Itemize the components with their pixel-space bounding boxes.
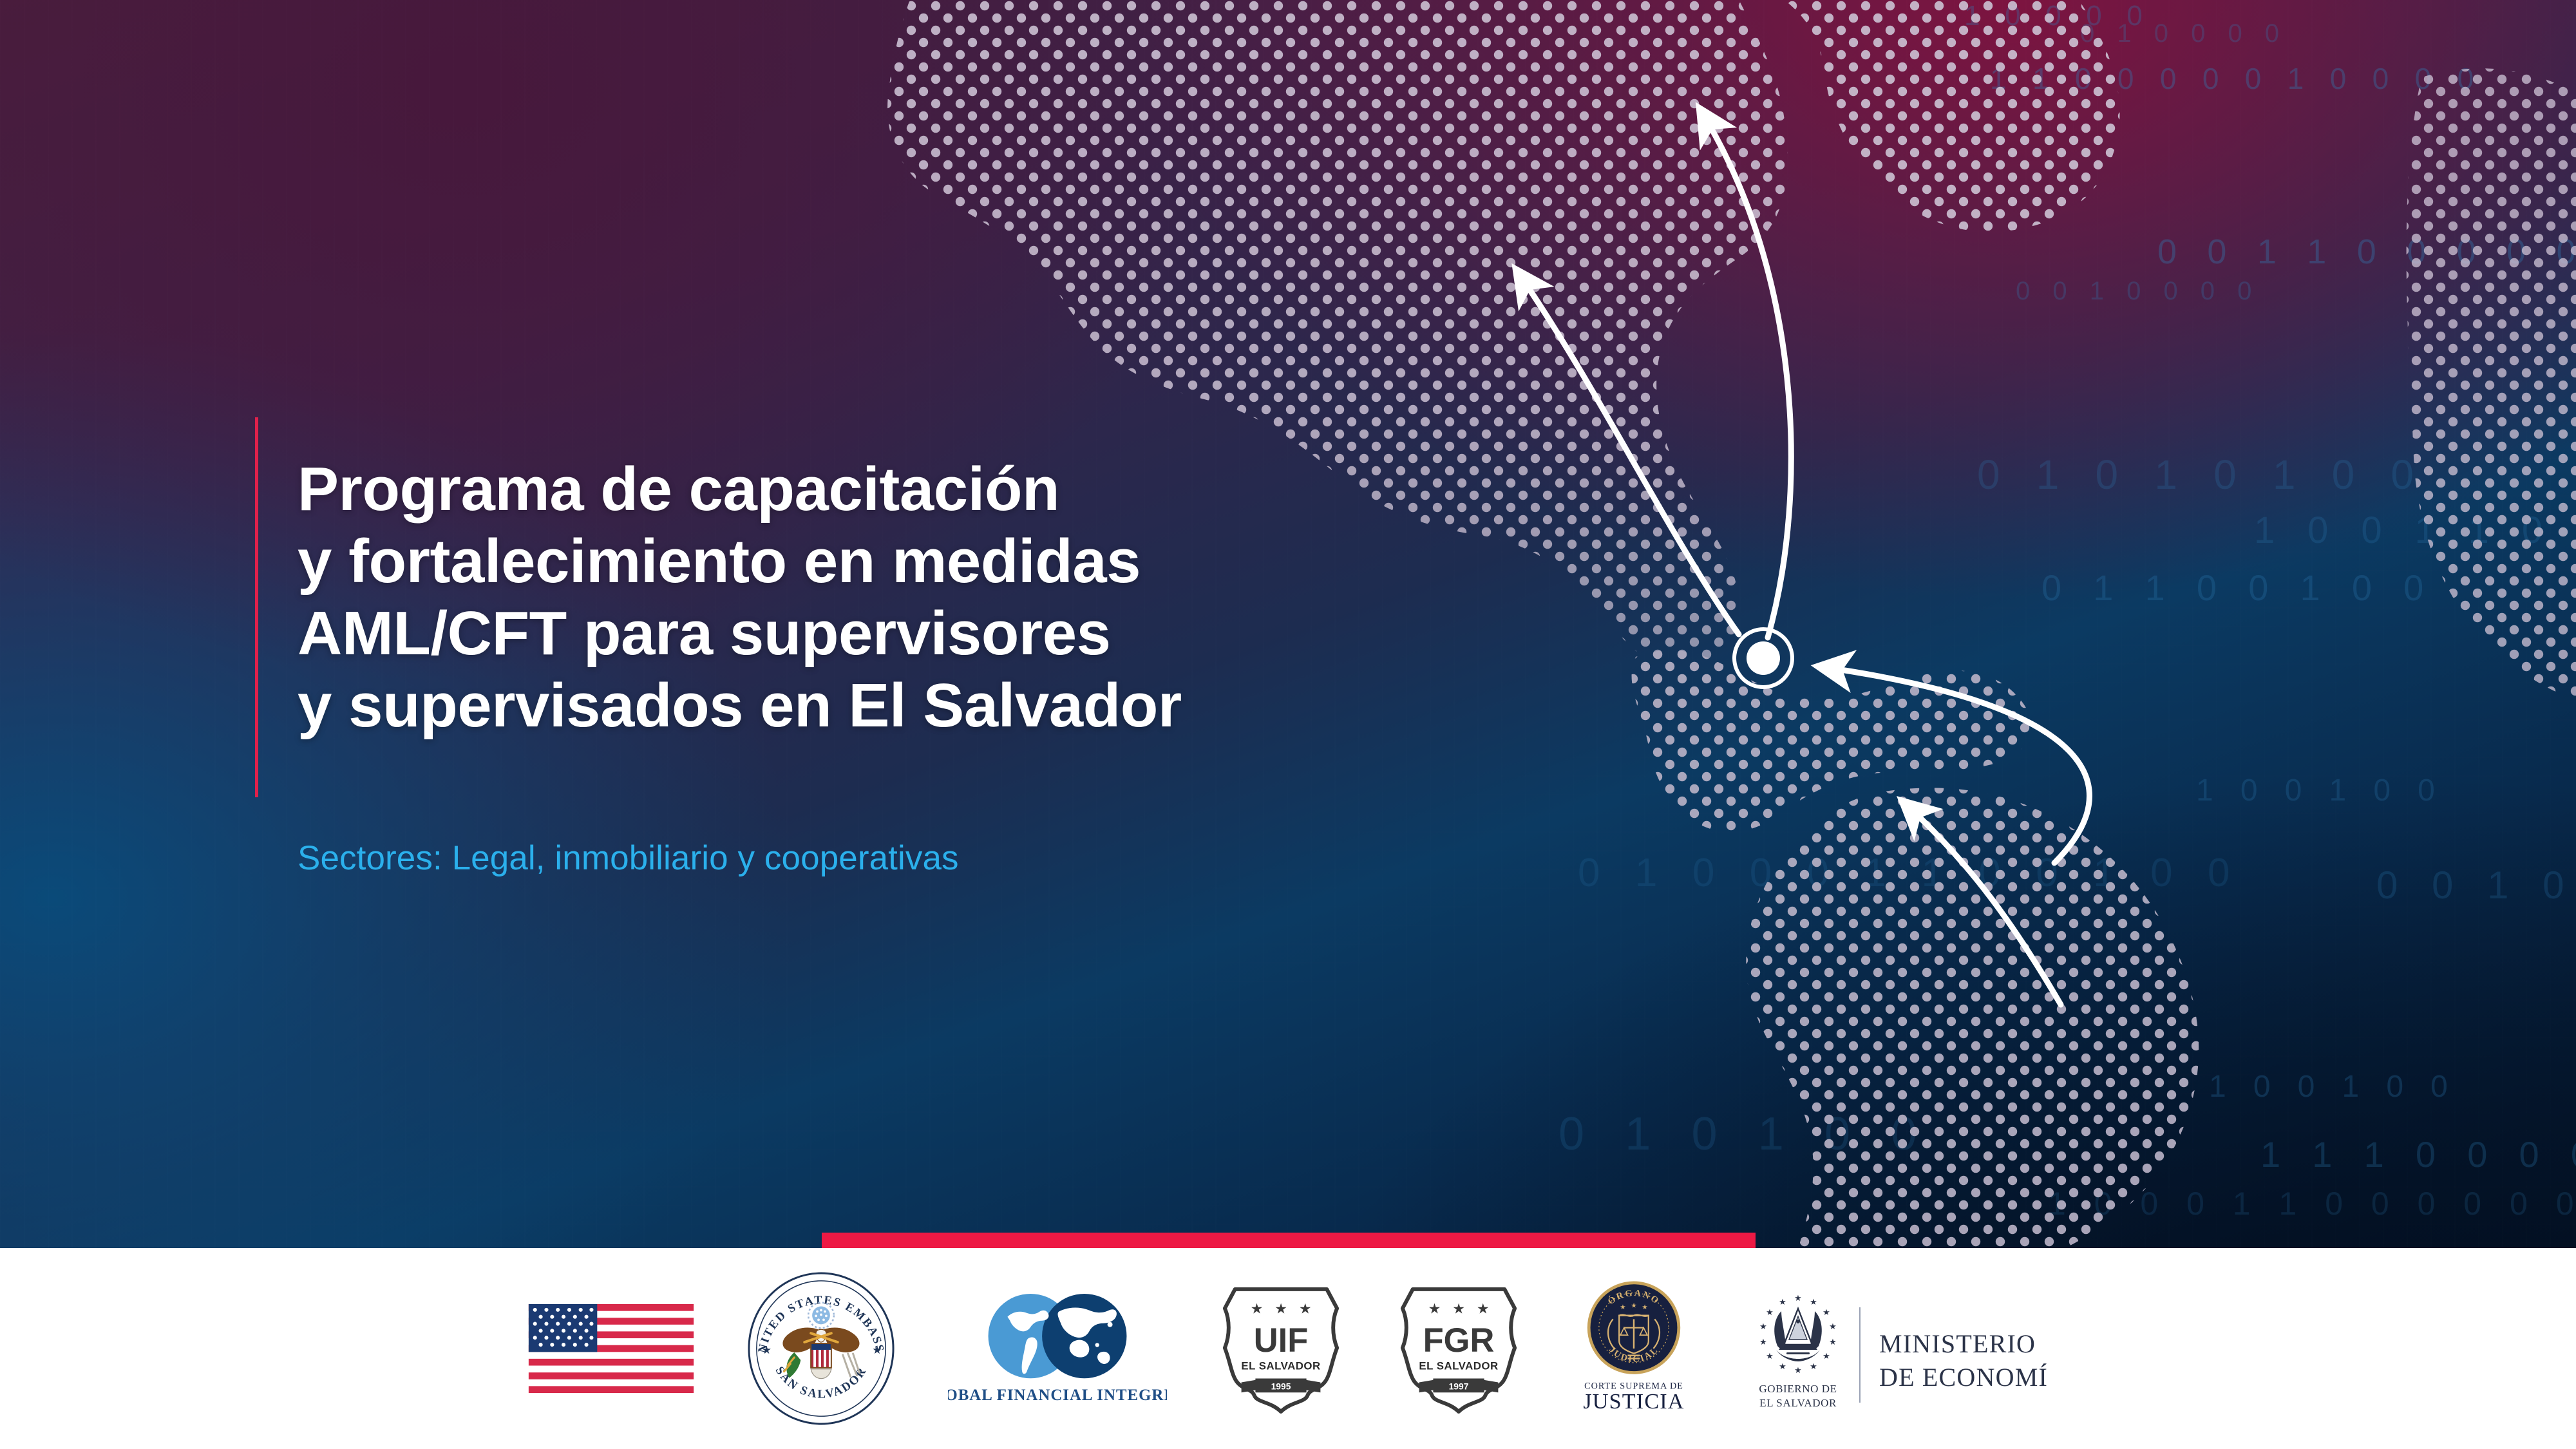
svg-text:★: ★ [1299,1301,1312,1317]
title-line-2: y fortalecimiento en medidas [298,526,1521,598]
partner-logo-strip: UNITED STATES EMBASSY SAN SALVADOR ★ ★ [0,1248,2576,1449]
arrow-to-north-america-near [1517,270,1739,634]
svg-text:★: ★ [1810,1361,1817,1371]
logo-us-flag [528,1304,694,1393]
svg-text:★: ★ [1251,1301,1264,1317]
logo-global-financial-integrity: GLOBAL FINANCIAL INTEGRITY [948,1286,1167,1412]
svg-text:★: ★ [1642,1304,1647,1311]
svg-text:★: ★ [1477,1301,1490,1317]
svg-text:★: ★ [1631,1302,1636,1309]
ministerio-line-1: MINISTERIO [1879,1329,2036,1358]
arrow-from-east [1819,667,2089,863]
ministerio-line-2: DE ECONOMÍA [1879,1363,2048,1392]
title-accent-rule [255,417,258,797]
logo-uif-el-salvador: ★★★ UIF EL SALVADOR 1995 [1217,1280,1345,1417]
fgr-acronym: FGR [1423,1322,1495,1359]
svg-text:★: ★ [1759,1321,1767,1331]
justicia-caption-large: JUSTICIA [1583,1390,1684,1414]
arrow-from-south-america [1903,802,2061,1005]
logo-ministerio-de-economia: ★★★ ★★ ★★ ★★ ★★ ★★ ★ [1745,1285,2048,1412]
fgr-country: EL SALVADOR [1419,1360,1498,1372]
svg-text:★: ★ [1829,1337,1837,1347]
gfi-globe-icon [989,1293,1127,1378]
svg-text:★: ★ [1779,1297,1786,1307]
page-title: Programa de capacitación y fortalecimien… [298,453,1521,741]
svg-text:★: ★ [872,1344,882,1356]
el-salvador-coat-of-arms: ★★★ ★★ ★★ ★★ ★★ ★★ ★ [1759,1293,1837,1375]
svg-text:★: ★ [1779,1361,1786,1371]
hub-dot [1747,641,1780,675]
fgr-year: 1997 [1449,1381,1469,1391]
page-subtitle: Sectores: Legal, inmobiliario y cooperat… [298,838,959,878]
svg-text:★: ★ [762,1344,772,1356]
title-slide: 1 0 0 0 00 1 0 0 0 01 1 0 0 0 0 0 1 0 0 … [0,0,2576,1449]
logo-us-embassy-san-salvador: UNITED STATES EMBASSY SAN SALVADOR ★ ★ [744,1272,898,1425]
title-line-1: Programa de capacitación [298,453,1521,526]
svg-text:★: ★ [1766,1307,1774,1317]
svg-text:★: ★ [1428,1301,1441,1317]
logo-fgr-el-salvador: ★★★ FGR EL SALVADOR 1997 [1395,1280,1522,1417]
title-line-4: y supervisados en El Salvador [298,670,1521,742]
uif-year: 1995 [1271,1381,1291,1391]
gobierno-line-1: GOBIERNO DE [1759,1383,1837,1395]
svg-text:★: ★ [1829,1321,1837,1331]
uif-country: EL SALVADOR [1241,1360,1320,1372]
title-line-3: AML/CFT para supervisores [298,598,1521,670]
svg-text:★: ★ [1620,1304,1625,1311]
svg-text:★: ★ [1794,1365,1802,1375]
gfi-wordmark: GLOBAL FINANCIAL INTEGRITY [948,1387,1167,1404]
uif-acronym: UIF [1254,1322,1309,1359]
gobierno-line-2: EL SALVADOR [1759,1397,1837,1409]
svg-text:★: ★ [1759,1337,1767,1347]
logo-corte-suprema-de-justicia: ÓRGANO JUDICIAL ★★★ [1573,1277,1695,1420]
svg-text:★: ★ [1452,1301,1465,1317]
svg-text:★: ★ [1810,1297,1817,1307]
svg-text:★: ★ [1823,1351,1830,1361]
svg-text:★: ★ [1274,1301,1287,1317]
svg-text:★: ★ [1823,1307,1830,1317]
arrow-to-north-america-far [1700,109,1791,638]
svg-text:★: ★ [1794,1293,1802,1303]
footer: UNITED STATES EMBASSY SAN SALVADOR ★ ★ [0,1248,2576,1449]
svg-text:★: ★ [1766,1351,1774,1361]
